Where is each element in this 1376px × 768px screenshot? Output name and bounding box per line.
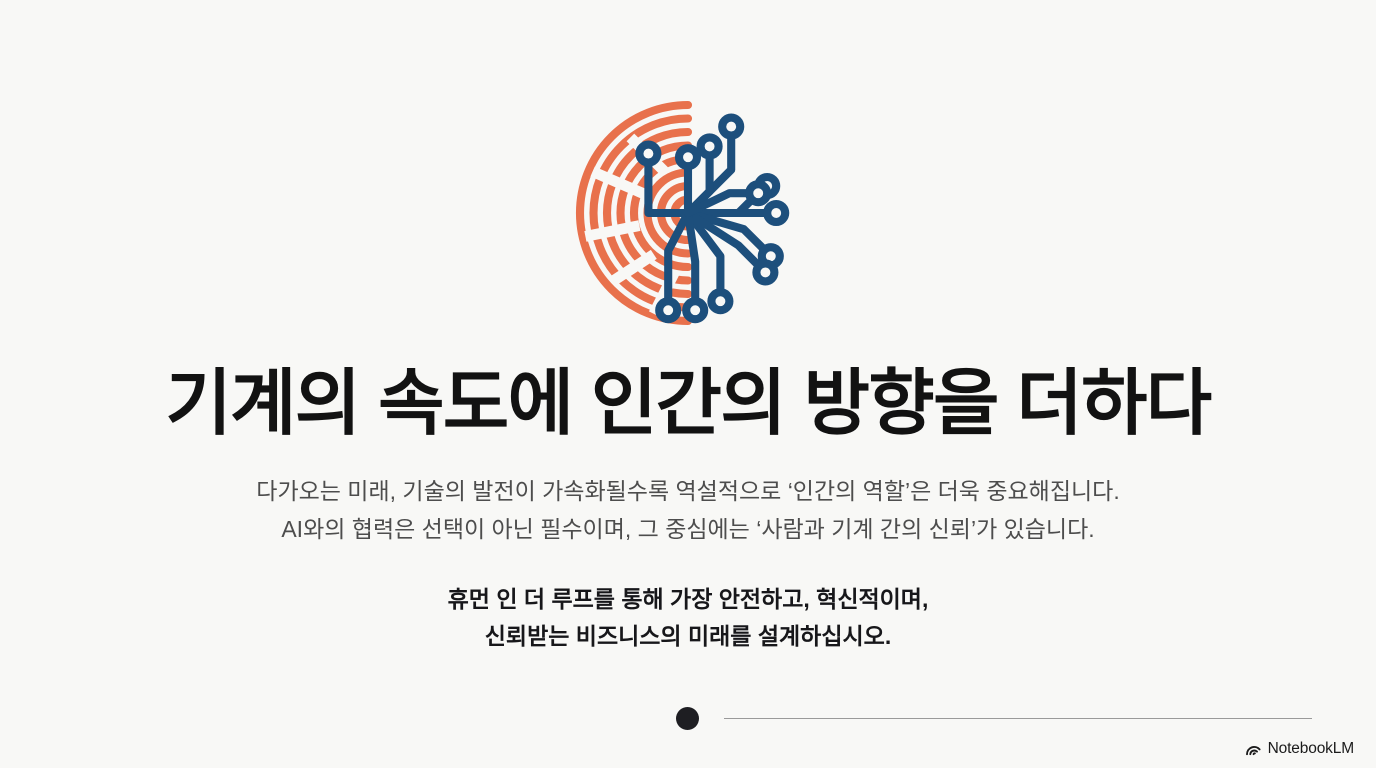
lede-paragraph: 다가오는 미래, 기술의 발전이 가속화될수록 역설적으로 ‘인간의 역할’은 …: [256, 472, 1119, 549]
cta-line-1: 휴먼 인 더 루프를 통해 가장 안전하고, 혁신적이며,: [448, 581, 929, 618]
page-title: 기계의 속도에 인간의 방향을 더하다: [165, 366, 1210, 444]
progress-dot: [676, 707, 699, 730]
lede-line-1: 다가오는 미래, 기술의 발전이 가속화될수록 역설적으로 ‘인간의 역할’은 …: [256, 472, 1119, 511]
cta-line-2: 신뢰받는 비즈니스의 미래를 설계하십시오.: [448, 618, 929, 655]
fingerprint-circuit-emblem: [553, 78, 823, 348]
slide-root: 기계의 속도에 인간의 방향을 더하다 다가오는 미래, 기술의 발전이 가속화…: [0, 0, 1376, 768]
notebooklm-brand: NotebookLM: [1245, 741, 1354, 757]
lede-line-2: AI와의 협력은 선택이 아닌 필수이며, 그 중심에는 ‘사람과 기계 간의 …: [256, 510, 1119, 549]
progress-indicator: [676, 707, 1312, 730]
notebooklm-wordmark: NotebookLM: [1268, 741, 1354, 757]
cta-statement: 휴먼 인 더 루프를 통해 가장 안전하고, 혁신적이며, 신뢰받는 비즈니스의…: [448, 581, 929, 656]
notebooklm-spark-icon: [1245, 741, 1262, 756]
progress-line: [724, 718, 1312, 720]
